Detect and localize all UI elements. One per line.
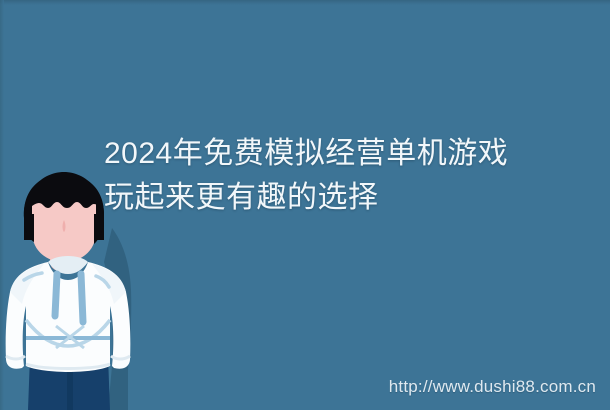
article-cover-image: 2024年免费模拟经营单机游戏 玩起来更有趣的选择 http://www.dus…	[0, 0, 610, 410]
watermark-url: http://www.dushi88.com.cn	[389, 377, 596, 397]
title-line-2: 玩起来更有趣的选择	[104, 176, 564, 220]
cover-title: 2024年免费模拟经营单机游戏 玩起来更有趣的选择	[104, 132, 564, 220]
title-line-1: 2024年免费模拟经营单机游戏	[104, 132, 564, 176]
character-hoodie	[6, 256, 131, 372]
top-edge-band	[0, 0, 610, 5]
drawstring-right	[81, 274, 83, 322]
drawstring-left	[55, 274, 57, 316]
